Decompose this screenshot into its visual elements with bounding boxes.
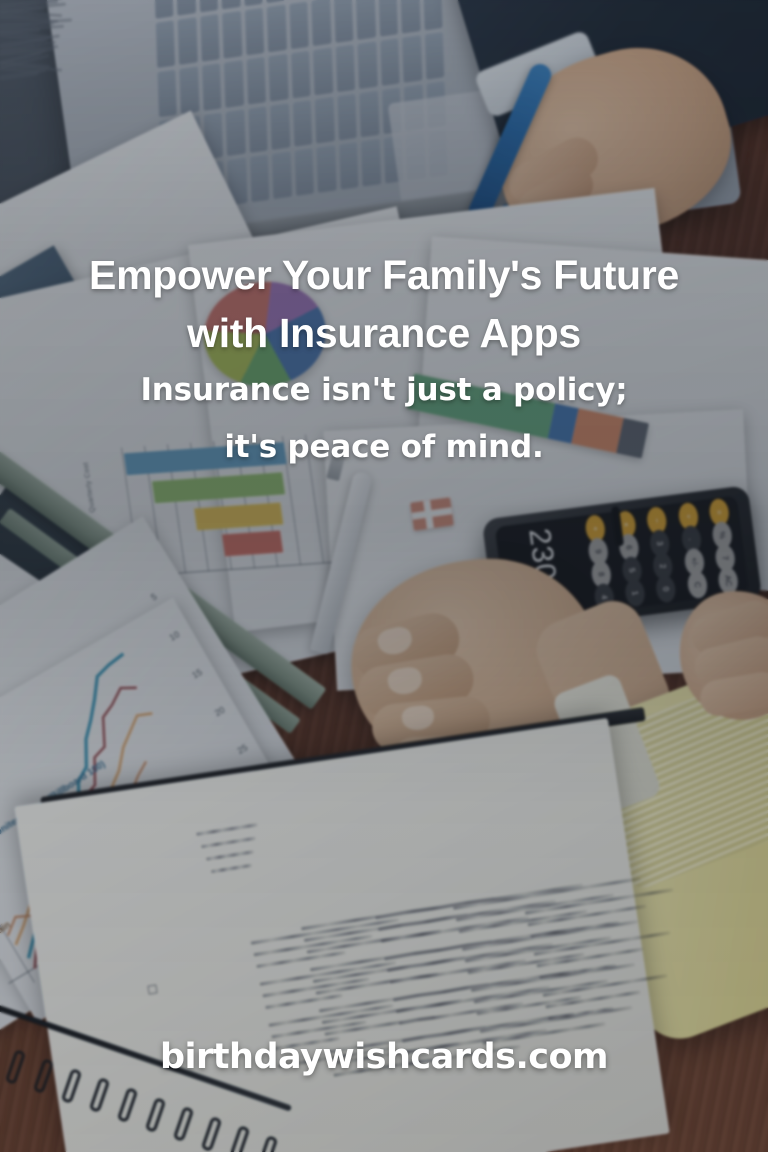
calculator-key[interactable]: 1 bbox=[624, 578, 646, 607]
keyboard-key bbox=[272, 152, 292, 199]
keyboard-key bbox=[311, 0, 331, 46]
keyboard-key bbox=[334, 0, 354, 43]
keyboard-key bbox=[423, 0, 443, 31]
poster-canvas: Quarterly Cost United S bbox=[0, 0, 768, 1152]
keyboard-key bbox=[250, 155, 270, 202]
bar-chart-bar bbox=[222, 531, 283, 557]
keyboard-key bbox=[402, 35, 422, 82]
keyboard-key bbox=[270, 103, 290, 150]
flag-icon bbox=[410, 497, 454, 530]
keyboard-key bbox=[269, 54, 289, 101]
keyboard-key bbox=[202, 63, 222, 110]
keyboard-key bbox=[337, 93, 357, 140]
keyboard-key bbox=[248, 106, 268, 153]
keyboard-key bbox=[356, 0, 376, 40]
keyboard-key bbox=[289, 2, 309, 49]
keyboard-key bbox=[246, 57, 266, 104]
keyboard-key bbox=[359, 90, 379, 137]
keyboard-key bbox=[221, 0, 241, 10]
keyboard-key bbox=[154, 0, 174, 19]
keyboard-key bbox=[180, 66, 200, 113]
keyboard-key bbox=[265, 0, 285, 3]
headline-line-2: with Insurance Apps bbox=[0, 304, 768, 362]
keyboard-key bbox=[339, 142, 359, 189]
keyboard-key bbox=[200, 14, 220, 61]
subheadline-line-2: it's peace of mind. bbox=[0, 419, 768, 476]
keyboard-key bbox=[156, 21, 176, 68]
site-watermark[interactable]: birthdaywishcards.com bbox=[0, 1037, 768, 1077]
keyboard-key bbox=[245, 8, 265, 55]
keyboard-key bbox=[291, 51, 311, 98]
keyboard-key bbox=[358, 41, 378, 88]
keyboard-key bbox=[178, 17, 198, 64]
keyboard-key bbox=[222, 11, 242, 58]
keyboard-key bbox=[157, 69, 177, 116]
keyboard-key bbox=[424, 32, 444, 79]
calculator-key[interactable]: 0 bbox=[655, 574, 677, 603]
handwritten-checkbox bbox=[147, 984, 157, 994]
keyboard-key bbox=[199, 0, 219, 13]
keyboard-key bbox=[293, 100, 313, 147]
keyboard-key bbox=[400, 0, 420, 34]
subheadline-line-1: Insurance isn't just a policy; bbox=[0, 362, 768, 419]
keyboard-key bbox=[317, 145, 337, 192]
keyboard-key bbox=[335, 44, 355, 91]
keyboard-key bbox=[378, 0, 398, 37]
text-block: Empower Your Family's Future with Insura… bbox=[0, 246, 768, 476]
keyboard-key bbox=[267, 5, 287, 52]
calculator-key[interactable]: C bbox=[686, 570, 708, 599]
keyboard-key bbox=[315, 96, 335, 143]
keyboard-key bbox=[294, 149, 314, 196]
keyboard-key bbox=[226, 109, 246, 156]
keyboard-key bbox=[224, 60, 244, 107]
keyboard-key bbox=[176, 0, 196, 16]
keyboard-key bbox=[361, 139, 381, 186]
headline-line-1: Empower Your Family's Future bbox=[0, 246, 768, 304]
background-photo: Quarterly Cost United S bbox=[0, 0, 768, 1152]
keyboard-key bbox=[313, 48, 333, 95]
keyboard-key bbox=[243, 0, 263, 7]
keyboard-key bbox=[380, 38, 400, 85]
